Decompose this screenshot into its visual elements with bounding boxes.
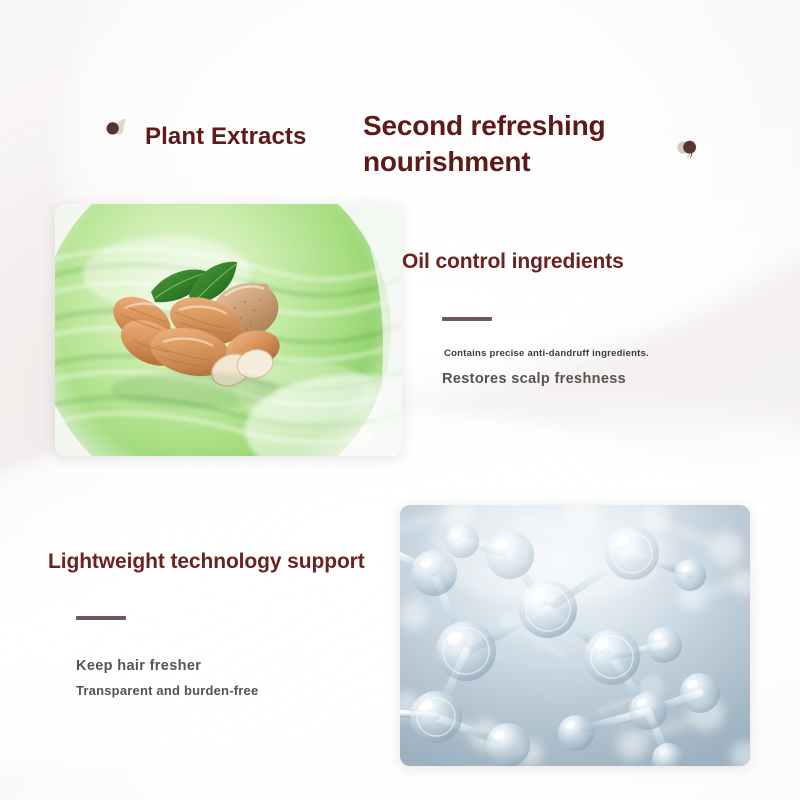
quote-close-icon (674, 136, 700, 162)
promo-page: Plant Extracts Second refreshing nourish… (0, 0, 800, 800)
oil-control-caption-large: Restores scalp freshness (442, 371, 762, 387)
lightweight-technology-caption-small: Transparent and burden-free (76, 683, 408, 698)
lightweight-technology-block: Lightweight technology support Keep hair… (48, 550, 408, 698)
page-header: Plant Extracts Second refreshing nourish… (0, 0, 800, 190)
oil-control-title: Oil control ingredients (402, 250, 762, 274)
eyebrow-label: Plant Extracts (145, 123, 306, 151)
oil-control-block: Oil control ingredients Contains precise… (402, 250, 762, 387)
green-gel-bowl-with-almonds-photo (55, 204, 402, 456)
lightweight-technology-divider (76, 616, 126, 620)
lightweight-technology-caption-large: Keep hair fresher (76, 658, 408, 674)
oil-control-caption-small: Contains precise anti-dandruff ingredien… (444, 348, 762, 359)
lightweight-technology-title: Lightweight technology support (48, 550, 408, 574)
quote-open-icon (104, 116, 130, 142)
molecular-structure-photo (400, 505, 750, 766)
oil-control-divider (442, 317, 492, 321)
page-title: Second refreshing nourishment (363, 108, 693, 180)
